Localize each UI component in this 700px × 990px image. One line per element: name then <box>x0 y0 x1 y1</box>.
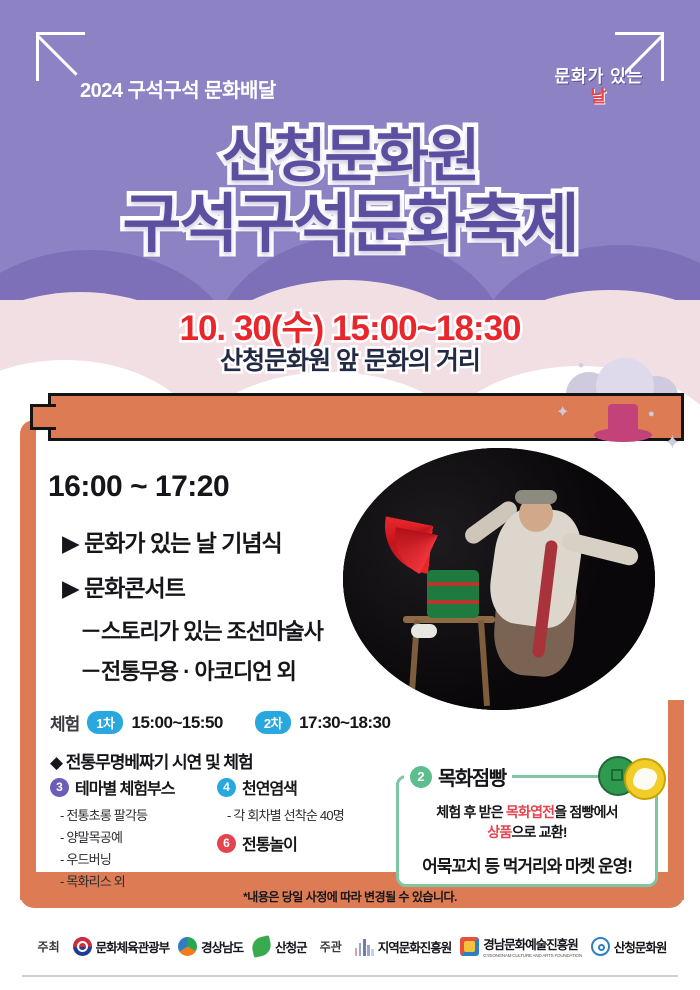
footer-divider <box>22 975 678 977</box>
shop-title: 목화점빵 <box>438 762 506 791</box>
box-ring-1 <box>427 582 479 586</box>
orange-frame-left <box>20 420 36 900</box>
corner-ornament-top-left <box>36 32 85 81</box>
performance-photo <box>343 448 655 710</box>
booth-name-6: 전통놀이 <box>242 831 297 855</box>
org-name-gyeongnam: 경상남도 <box>201 937 243 956</box>
coin-hole <box>611 769 623 781</box>
munhwa-day-logo: 문화가 있는 날 <box>550 62 648 110</box>
square-icon <box>460 937 479 956</box>
booth-detail-3-0: - 전통초롱 팔각등 <box>60 805 203 824</box>
org-sancheong-cc: 산청문화원 <box>591 937 667 956</box>
program-list: ▶ 문화가 있는 날 기념식 ▶ 문화콘서트 －스토리가 있는 조선마술사 －전… <box>62 524 323 694</box>
booth-column-right: 4 천연염색 - 각 회차별 선착순 40명 6 전통놀이 <box>217 775 370 893</box>
program-item-1: ▶ 문화콘서트 <box>62 569 323 603</box>
booth-name-4: 천연염색 <box>242 775 297 799</box>
event-place: 산청문화원 앞 문화의 거리 <box>0 341 700 377</box>
booth-item-6: 6 전통놀이 <box>217 831 370 855</box>
shop-highlight-coin: 목화엽전 <box>506 804 554 820</box>
sparkle-icon-3: ● <box>648 408 655 420</box>
program-subitem-1: －전통무용 · 아코디언 외 <box>80 654 323 686</box>
shop-header: 2 목화점빵 <box>404 762 512 791</box>
session-1-badge: 1차 <box>87 711 123 734</box>
experience-sessions: 체험 1차 15:00~15:50 2차 17:30~18:30 <box>50 710 390 735</box>
disclaimer-note: *내용은 당일 사정에 따라 변경될 수 있습니다. <box>0 888 700 905</box>
booth-number-3: 3 <box>50 778 69 797</box>
org-name-mcst: 문화체육관광부 <box>96 937 170 956</box>
booth-detail-3-2: - 우드버닝 <box>60 849 203 868</box>
shop-text-b: 을 점빵에서 <box>554 804 618 820</box>
booth-item-3: 3 테마별 체험부스 <box>50 775 203 799</box>
booth-number-4: 4 <box>217 778 236 797</box>
booth-number-6: 6 <box>217 834 236 853</box>
shop-body: 체험 후 받은 목화엽전을 점빵에서상품으로 교환! 어묵꼬치 등 먹거리와 마… <box>402 802 652 877</box>
flower-icon <box>591 937 610 956</box>
booth-detail-3-1: - 양말목공예 <box>60 827 203 846</box>
taegeuk-icon <box>73 937 92 956</box>
program-time: 16:00 ~ 17:20 <box>48 470 229 504</box>
box-ring-2 <box>427 600 479 604</box>
shop-highlight-prize: 상품 <box>487 824 511 840</box>
festival-poster: 2024 구석구석 문화배달 문화가 있는 날 산청문화원 구석구석문화축제 1… <box>0 0 700 990</box>
org-subtitle-gncaf: GYEONGNAM CULTURE AND ARTS FOUNDATION <box>483 954 582 959</box>
org-sancheong-gun: 산청군 <box>252 937 307 956</box>
org-name-sancheong-cc: 산청문화원 <box>614 937 667 956</box>
org-block-gncaf: 경남문화예술진흥원 GYEONGNAM CULTURE AND ARTS FOU… <box>483 934 582 959</box>
building-icon <box>355 937 374 956</box>
green-stacked-box <box>427 570 479 618</box>
program-subitem-0: －스토리가 있는 조선마술사 <box>80 614 323 646</box>
shop-number-badge: 2 <box>410 766 432 788</box>
org-mcst: 문화체육관광부 <box>73 937 170 956</box>
shop-text-c: 으로 교환! <box>511 824 566 840</box>
orange-banner <box>48 393 684 441</box>
hat-brim <box>594 428 652 442</box>
footer-logos: 주최 문화체육관광부 경상남도 산청군 주관 지역문화진흥원 경남문화예술진흥원… <box>0 916 700 976</box>
sparkle-icon-1: ✦ <box>556 402 569 422</box>
coin-icons <box>598 756 668 794</box>
session-1-time: 15:00~15:50 <box>131 713 222 733</box>
booth-item-4: 4 천연염색 <box>217 775 370 799</box>
org-name-sancheong-gun: 산청군 <box>275 937 307 956</box>
organizer-label: 주관 <box>320 938 342 955</box>
org-name-rcda: 지역문화진흥원 <box>378 937 452 956</box>
booth-name-3: 테마별 체험부스 <box>75 775 175 799</box>
experience-booths: 3 테마별 체험부스 - 전통초롱 팔각등 - 양말목공예 - 우드버닝 - 목… <box>50 775 370 893</box>
pinwheel-icon <box>178 937 197 956</box>
host-label: 주최 <box>38 938 60 955</box>
org-gyeongnam: 경상남도 <box>178 937 243 956</box>
title-line-1: 산청문화원 <box>0 128 700 186</box>
org-gncaf: 경남문화예술진흥원 GYEONGNAM CULTURE AND ARTS FOU… <box>460 934 582 959</box>
performer-foot <box>411 624 437 638</box>
org-rcda: 지역문화진흥원 <box>355 937 452 956</box>
session-2-time: 17:30~18:30 <box>299 713 390 733</box>
leaf-icon <box>250 935 273 958</box>
kicker-text: 2024 구석구석 문화배달 <box>80 74 276 103</box>
program-item-0: ▶ 문화가 있는 날 기념식 <box>62 524 323 558</box>
session-2-badge: 2차 <box>255 711 291 734</box>
title-line-2: 구석구석문화축제 <box>0 192 700 256</box>
cotton-flower-icon <box>634 768 656 790</box>
poster-title: 산청문화원 구석구석문화축제 <box>0 128 700 256</box>
shop-text-a: 체험 후 받은 <box>436 804 506 820</box>
magic-hat-icon <box>594 404 652 444</box>
org-name-gncaf: 경남문화예술진흥원 <box>483 938 578 952</box>
booth-detail-4-0: - 각 회차별 선착순 40명 <box>227 805 370 824</box>
experience-headline: ◆ 전통무명베짜기 시연 및 체험 <box>50 748 253 773</box>
orange-frame-right <box>668 700 684 900</box>
shop-line-3: 어묵꼬치 등 먹거리와 마켓 운영! <box>402 852 652 877</box>
booth-column-left: 3 테마별 체험부스 - 전통초롱 팔각등 - 양말목공예 - 우드버닝 - 목… <box>50 775 203 893</box>
shop-line-1: 체험 후 받은 목화엽전을 점빵에서상품으로 교환! <box>402 802 652 843</box>
gold-cotton-coin-icon <box>624 758 666 800</box>
banner-notch <box>30 404 56 430</box>
performer-headband <box>515 490 557 504</box>
sparkle-icon-2: ✦ <box>664 430 681 455</box>
experience-label: 체험 <box>50 710 79 735</box>
logo-line-2: 날 <box>550 82 648 107</box>
